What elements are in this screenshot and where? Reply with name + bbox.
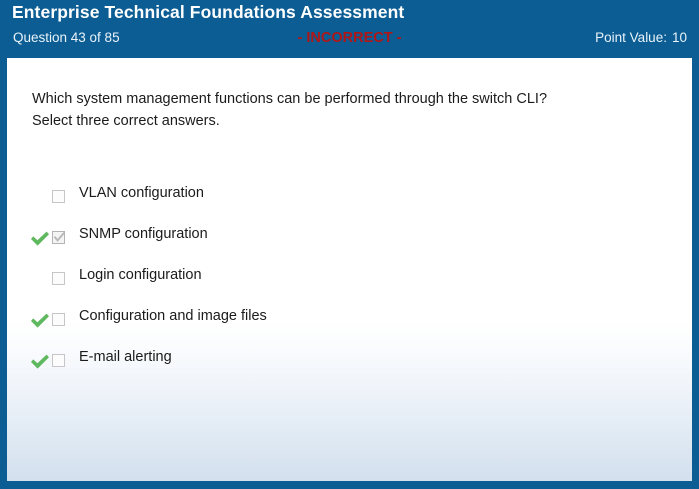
answer-checkbox-4[interactable]	[52, 354, 65, 367]
answer-label-2: Login configuration	[79, 267, 202, 283]
answer-checkbox-3[interactable]	[52, 313, 65, 326]
answer-option-row[interactable]: SNMP configuration	[7, 228, 692, 269]
answer-label-4: E-mail alerting	[79, 349, 172, 365]
correct-check-icon	[29, 311, 51, 331]
question-line-2: Select three correct answers.	[32, 110, 652, 132]
quiz-window: Enterprise Technical Foundations Assessm…	[0, 0, 699, 489]
header-status-row: Question 43 of 85 - INCORRECT - Point Va…	[0, 30, 699, 52]
answer-label-0: VLAN configuration	[79, 185, 204, 201]
answer-option-row[interactable]: Login configuration	[7, 269, 692, 310]
page-title: Enterprise Technical Foundations Assessm…	[12, 2, 404, 23]
answer-option-row[interactable]: VLAN configuration	[7, 187, 692, 228]
point-value: Point Value:10	[595, 30, 687, 45]
correct-check-icon	[29, 229, 51, 249]
answer-label-1: SNMP configuration	[79, 226, 208, 242]
point-value-label: Point Value:	[595, 30, 667, 45]
status-badge: - INCORRECT -	[0, 30, 699, 46]
answer-label-3: Configuration and image files	[79, 308, 267, 324]
answer-option-row[interactable]: E-mail alerting	[7, 351, 692, 392]
answer-checkbox-0[interactable]	[52, 190, 65, 203]
answer-checkbox-1[interactable]	[52, 231, 65, 244]
quiz-header: Enterprise Technical Foundations Assessm…	[0, 0, 699, 58]
question-line-1: Which system management functions can be…	[32, 88, 652, 110]
question-text: Which system management functions can be…	[32, 88, 652, 132]
answer-options-list: VLAN configuration SNMP configuration L	[7, 187, 692, 392]
answer-checkbox-2[interactable]	[52, 272, 65, 285]
answer-option-row[interactable]: Configuration and image files	[7, 310, 692, 351]
point-value-number: 10	[672, 30, 687, 45]
correct-check-icon	[29, 352, 51, 372]
question-panel: Which system management functions can be…	[7, 58, 692, 481]
